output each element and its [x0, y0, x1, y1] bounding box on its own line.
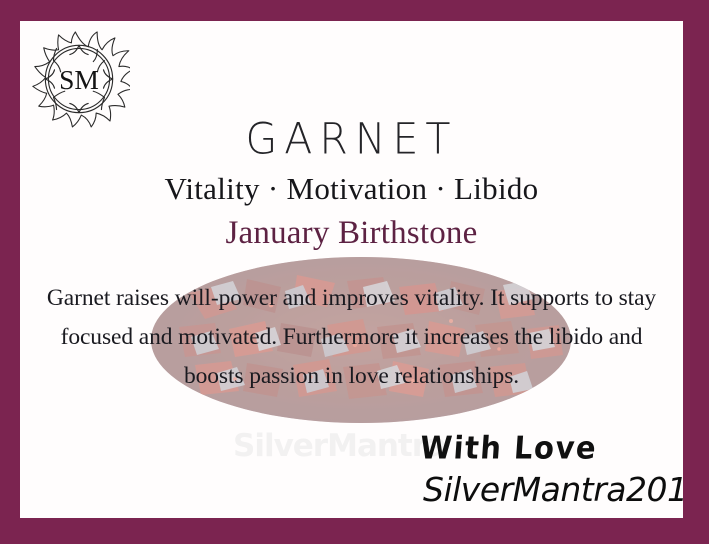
- description-text: Garnet raises will-power and improves vi…: [30, 279, 673, 396]
- birthstone-info-card: SM: [0, 0, 709, 544]
- sun-mandala-logo: SM: [28, 28, 130, 130]
- birthstone-label: January Birthstone: [20, 215, 683, 253]
- signature-greeting: With Love: [419, 433, 598, 464]
- logo-monogram: SM: [59, 64, 99, 95]
- page-title: GARNET: [20, 118, 683, 161]
- signature-brand: SilverMantra2016: [423, 473, 683, 506]
- card-inner-sheet: SM: [20, 21, 683, 518]
- keywords-subtitle: Vitality · Motivation · Libido: [20, 172, 683, 206]
